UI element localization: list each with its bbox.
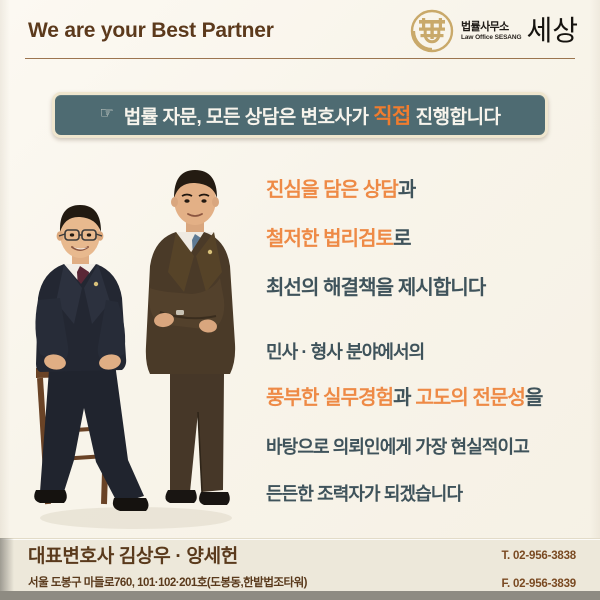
- notice-text-after: 진행합니다: [416, 107, 501, 128]
- brand-office-block: 법률사무소 Law Office SESANG: [461, 22, 521, 45]
- copy-line-2-dark: 로: [393, 228, 411, 250]
- copy-line-5-dark-a: 과: [393, 387, 411, 409]
- copy-line-1: 진심을 담은 상담과: [266, 180, 588, 200]
- left-edge-shading: [0, 0, 10, 600]
- footer-phone-block: T. 02-956-3838 F. 02-956-3839: [501, 551, 576, 590]
- header-divider: [25, 58, 575, 59]
- notice-banner: ☞ 법률 자문, 모든 상담은 변호사가 직접 진행합니다: [52, 92, 548, 138]
- brand-name: 세상: [526, 18, 578, 45]
- copy-line-6: 바탕으로 의뢰인에게 가장 현실적이고: [266, 438, 588, 456]
- copy-line-5-orange-a: 풍부한 실무경험: [266, 387, 393, 409]
- copy-line-3: 최선의 해결책을 제시합니다: [266, 278, 588, 298]
- copy-line-1-dark: 과: [398, 179, 416, 201]
- header: We are your Best Partner 법률사무소: [0, 0, 600, 60]
- copy-line-7: 든든한 조력자가 되겠습니다: [266, 485, 588, 503]
- law-firm-ad-banner: We are your Best Partner 법률사무소: [0, 0, 600, 600]
- two-lawyers-portrait: [18, 160, 266, 538]
- right-edge-shading: [590, 0, 600, 600]
- copy-line-2-orange: 철저한 법리검토: [266, 228, 393, 250]
- brand-office-en: Law Office SESANG: [461, 35, 521, 42]
- brand-office-kr: 법률사무소: [461, 22, 509, 33]
- footer-contact-block: 대표변호사 김상우 · 양세헌 서울 도봉구 마들로760, 101·102·2…: [28, 545, 307, 590]
- copy-line-5-orange-b: 고도의 전문성: [411, 387, 525, 409]
- copy-line-2: 철저한 법리검토로: [266, 229, 588, 249]
- footer-address: 서울 도봉구 마들로760, 101·102·201호(도봉동,한밭법조타워): [28, 574, 307, 590]
- notice-text-highlight: 직접: [373, 105, 411, 128]
- main-copy-block: 진심을 담은 상담과 철저한 법리검토로 최선의 해결책을 제시합니다 민사 ·…: [266, 180, 588, 503]
- footer-fax: F. 02-956-3839: [501, 579, 576, 591]
- page-title: We are your Best Partner: [28, 19, 274, 43]
- notice-text-before: 법률 자문, 모든 상담은 변호사가: [124, 107, 369, 128]
- copy-line-4: 민사 · 형사 분야에서의: [266, 343, 588, 361]
- copy-line-5-dark-b: 을: [525, 387, 543, 409]
- footer-telephone[interactable]: T. 02-956-3838: [501, 551, 576, 563]
- bottom-bar: [0, 591, 600, 600]
- brand-wordmark: 법률사무소 Law Office SESANG 세상: [461, 18, 578, 45]
- footer-lawyer-names: 대표변호사 김상우 · 양세헌: [28, 545, 307, 569]
- copy-line-5: 풍부한 실무경험과 고도의 전문성을: [266, 388, 588, 408]
- footer: 대표변호사 김상우 · 양세헌 서울 도봉구 마들로760, 101·102·2…: [0, 538, 600, 593]
- notice-banner-text: 법률 자문, 모든 상담은 변호사가 직접 진행합니다: [124, 100, 501, 130]
- brand-logo[interactable]: 법률사무소 Law Office SESANG 세상: [410, 8, 578, 54]
- copy-line-1-orange: 진심을 담은 상담: [266, 179, 398, 201]
- pointing-hand-icon: ☞: [99, 106, 113, 122]
- standing-lawyer: [146, 170, 235, 505]
- sesang-circular-emblem-icon: [410, 9, 454, 53]
- seated-lawyer: [34, 205, 148, 511]
